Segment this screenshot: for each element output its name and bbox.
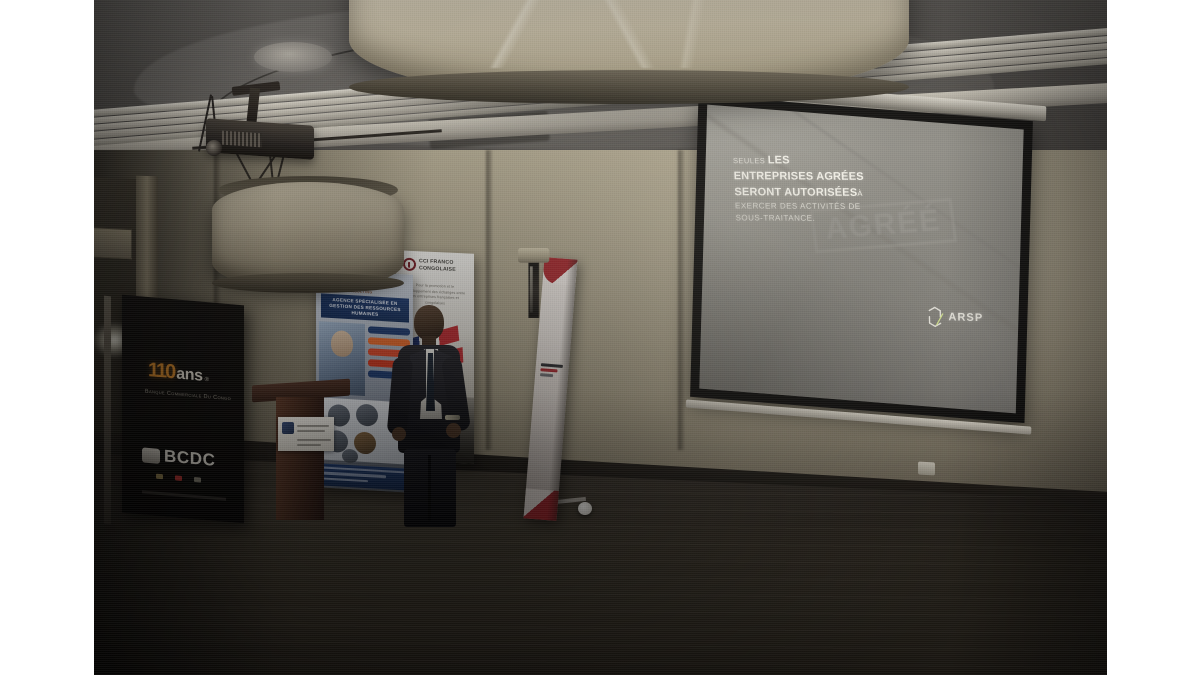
screenshot-root: AGRÉÉ SEULES LES ENTREPRISES AGRÉES SERO… [0,0,1200,675]
speaker-leg-gap [428,455,431,521]
podium-column [276,397,324,520]
bcdc-partner-dots [156,474,201,483]
slide-line-2: ENTREPRISES AGRÉES [733,168,961,185]
letterbox-right [1107,0,1200,675]
speaker-head [414,305,444,340]
wall-plaque [94,227,132,259]
cci-subtitle: Pour la promotion et le développement de… [404,283,466,308]
slide-line-4: EXERCER DES ACTIVITÉS DE [734,200,962,213]
bcdc-banner-stand [104,296,111,525]
projector-lens-icon [206,140,222,156]
speaker-hand-left [392,427,406,441]
cci-ring-icon [403,258,416,272]
projector-vent [222,131,262,148]
arsp-logo: ARSP [925,306,983,330]
wall-outlet [918,462,935,476]
speaker-hand-right [446,423,461,438]
speaker-person [384,305,470,525]
slide-line-5: SOUS-TRAITANCE. [735,212,963,225]
projection-screen: AGRÉÉ SEULES LES ENTREPRISES AGRÉES SERO… [690,95,1033,423]
pendant-lamp-large [349,0,909,100]
screen-frame: AGRÉÉ SEULES LES ENTREPRISES AGRÉES SERO… [690,95,1033,423]
cci-name: CCI FRANCO CONGOLAISE [419,258,456,273]
bcdc-brand-name: BCDC [164,446,216,471]
bcdc-anniversary: 110 ans ® [148,359,209,387]
bcdc-footer-rule [142,490,226,500]
letterbox-left [0,0,94,675]
bcdc-tagline: Banque Commerciale Du Congo [140,388,236,402]
slide-line-1: SEULES LES [732,152,960,169]
screen-light-falloff [699,105,1023,414]
arsp-logo-text: ARSP [948,312,983,325]
pendant-lamp-small [212,182,404,290]
rollup-base-weight [578,502,592,515]
ceiling-projector [200,100,328,160]
podium-sign-plate [278,417,334,451]
podium-sign-logo [282,422,294,434]
lamp-shade-texture [389,0,869,68]
cci-logo-lockup: CCI FRANCO CONGOLAISE [403,258,456,273]
speaker-wristwatch [445,415,460,420]
bcdc-anniversary-number: 110 [148,359,174,384]
bcdc-shield-icon [142,447,160,464]
slide-text-block: SEULES LES ENTREPRISES AGRÉES SERONT AUT… [732,152,963,225]
lamp-bottom-rim [349,70,909,104]
bcdc-brand-lockup: BCDC [142,444,216,470]
arsp-recycle-arrows-icon [925,306,945,329]
wall-panel-seam [678,150,684,450]
screen-surface: AGRÉÉ SEULES LES ENTREPRISES AGRÉES SERO… [699,105,1023,414]
wall-panel-seam [486,150,492,450]
bcdc-anniversary-mark: ® [205,377,209,383]
bcdc-anniversary-word: ans [176,365,202,385]
bcdc-rollup-banner: 110 ans ® Banque Commerciale Du Congo BC… [122,295,244,524]
slide-line-3: SERONT AUTORISÉESÀ [734,184,962,201]
photo-viewport: AGRÉÉ SEULES LES ENTREPRISES AGRÉES SERO… [94,0,1107,675]
wooden-podium [260,382,342,520]
ceiling-downlight [254,42,332,72]
scs-photo-face [331,330,353,357]
